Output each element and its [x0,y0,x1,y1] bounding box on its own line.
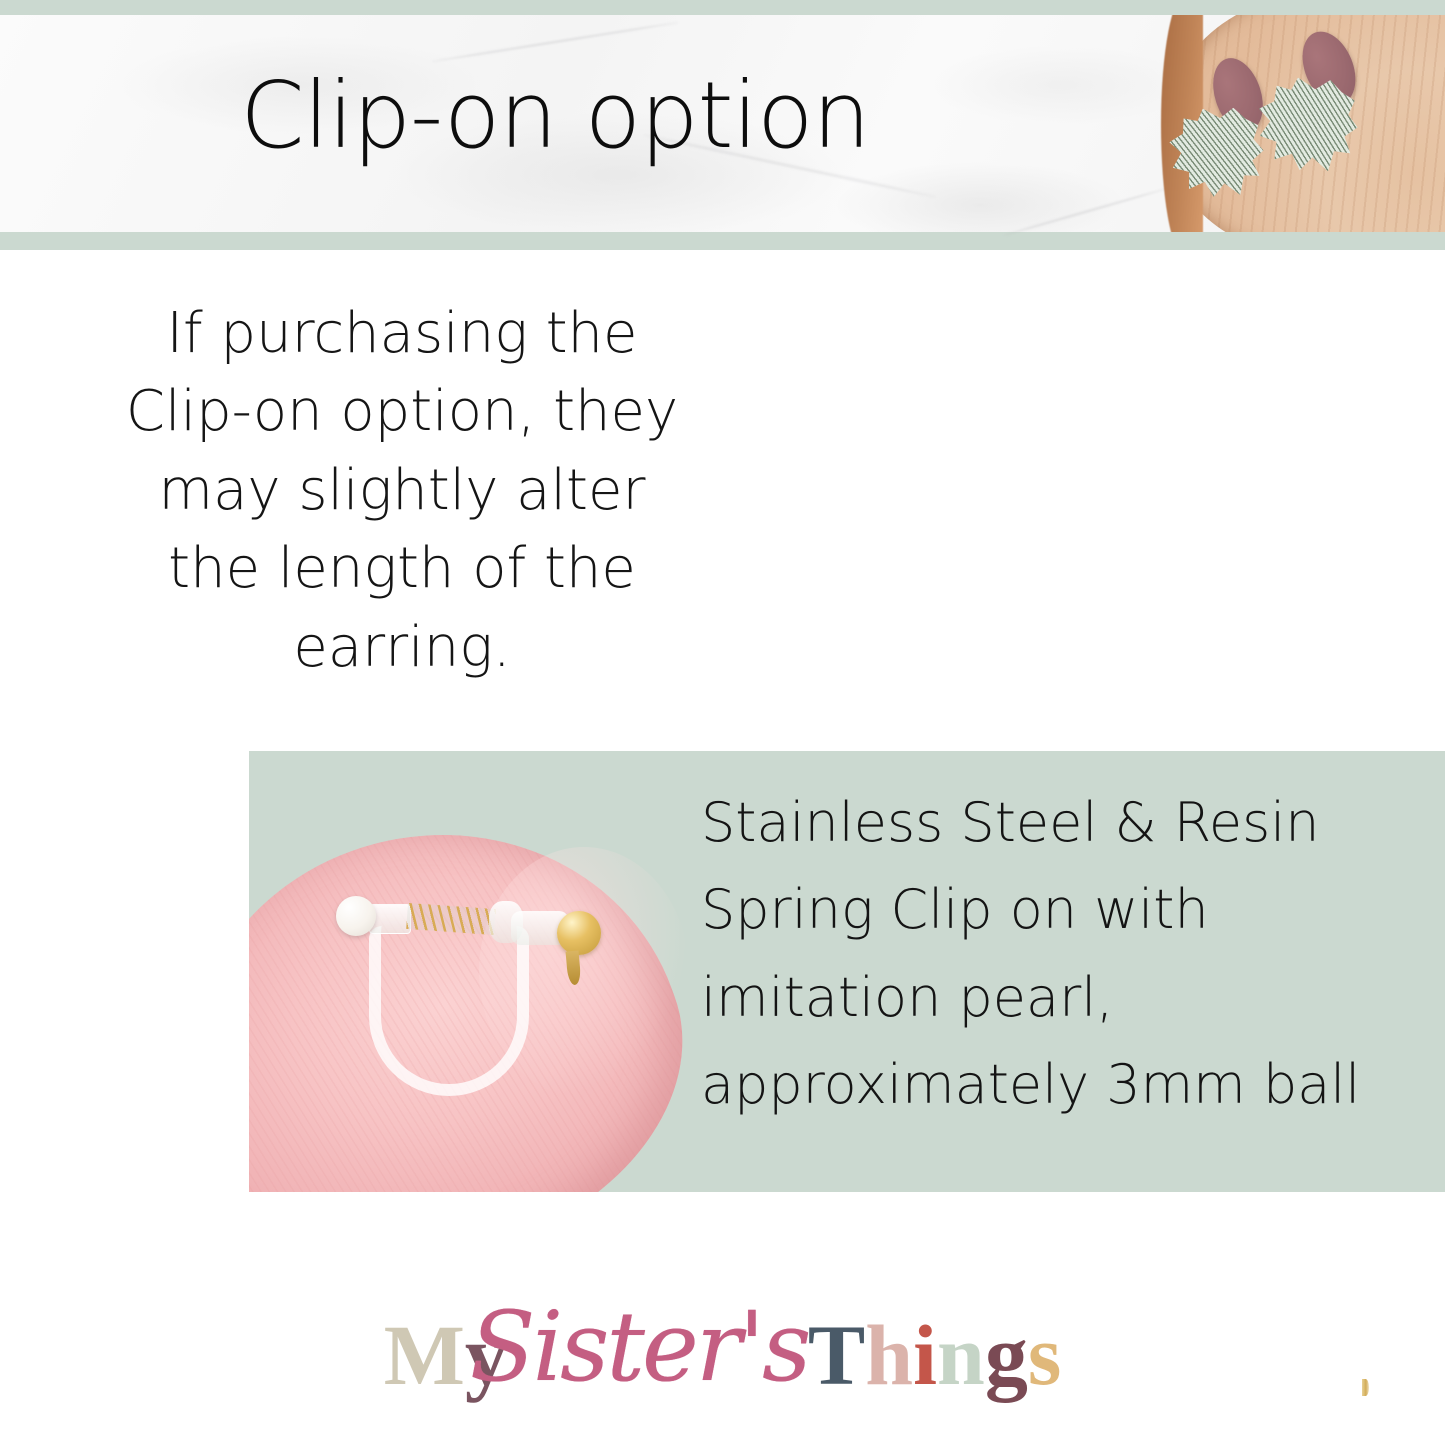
logo-letter-h: h [865,1307,913,1403]
logo-letter-g: g [985,1307,1028,1403]
logo-letter-i: i [913,1307,937,1403]
brand-logo-inner: MySister'sThings [384,1300,1062,1410]
logo-word-sisters: Sister's [470,1282,809,1412]
imitation-pearl-ball [336,896,376,936]
intro-paragraph: If purchasing the Clip-on option, they m… [72,295,732,687]
logo-letter-m: M [384,1307,465,1403]
header-earrings-photo [1155,15,1445,232]
clip-on-finding-photo [249,751,695,1192]
logo-letter-n: n [937,1307,985,1403]
marble-vein [431,21,678,62]
info-panel: Stainless Steel & Resin Spring Clip on w… [249,751,1445,1192]
brand-logo: MySister'sThings [0,1300,1445,1420]
header-banner: Clip-on option [0,0,1445,250]
logo-word-things: Things [808,1307,1061,1403]
clip-on-description: Stainless Steel & Resin Spring Clip on w… [701,779,1401,1129]
gold-ball-end [557,911,601,955]
resin-clip-loop [369,926,529,1096]
marble-vein [1003,188,1167,237]
logo-letter-s: s [1028,1307,1061,1403]
logo-letter-t: T [808,1307,865,1403]
corner-gold-artifact [1362,1379,1369,1396]
page-title: Clip-on option [0,70,1110,162]
